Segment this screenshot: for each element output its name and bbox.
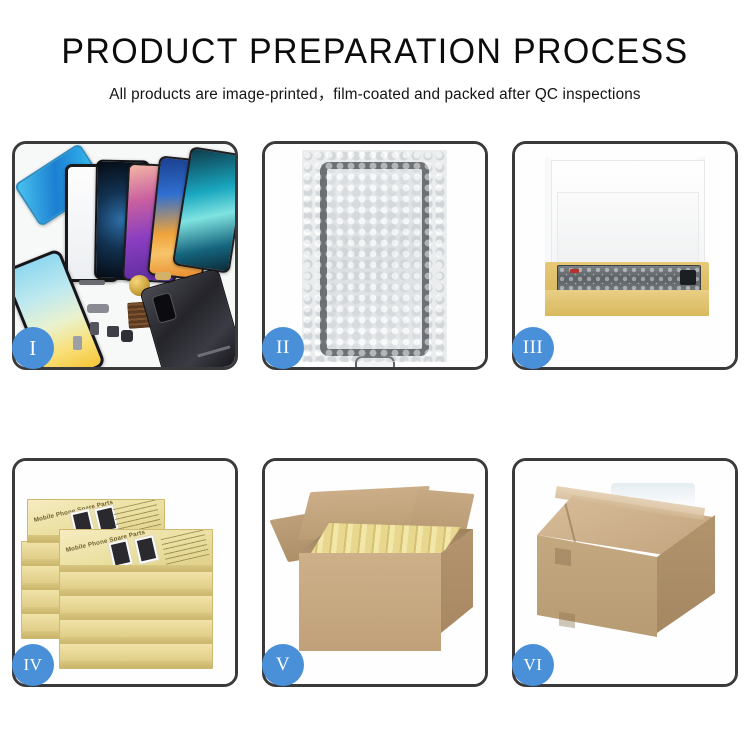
back-cover-detail	[197, 345, 231, 357]
screen-label-dot	[570, 269, 579, 273]
flex-part-6	[155, 272, 171, 280]
carton-front-face	[299, 553, 441, 651]
stacked-box	[59, 595, 213, 621]
step-badge-3: III	[512, 327, 554, 369]
stacked-box	[59, 571, 213, 597]
carton-tab-lower	[559, 612, 575, 629]
flex-part-2	[87, 304, 109, 313]
stacked-box-lid-front: Mobile Phone Spare Parts	[59, 529, 213, 573]
flex-part-3	[90, 322, 99, 335]
phone-back-cover	[139, 268, 235, 367]
bubble-wrap-sheet	[302, 150, 447, 362]
step-badge-5: V	[262, 644, 304, 686]
page-header: PRODUCT PREPARATION PROCESS All products…	[0, 0, 750, 104]
screen-connector	[680, 270, 696, 285]
process-step-panel-2: II	[262, 141, 488, 370]
step-badge-4: IV	[12, 644, 54, 686]
stacked-box	[59, 619, 213, 645]
process-step-panel-5: V	[262, 458, 488, 687]
foam-padding	[557, 192, 699, 268]
page-title: PRODUCT PREPARATION PROCESS	[11, 34, 739, 71]
box-print-thumb	[133, 534, 160, 565]
flex-part-1	[79, 280, 105, 285]
process-step-panel-1: I	[12, 141, 238, 370]
flex-part-4	[107, 326, 119, 337]
page-subtitle: All products are image-printed，film-coat…	[0, 82, 750, 104]
camera-module-icon	[151, 292, 177, 324]
bubble-texture	[302, 150, 447, 362]
stacked-box	[59, 643, 213, 669]
process-step-panel-3: III	[512, 141, 738, 370]
flex-part-8	[73, 336, 82, 350]
box-spec-lines	[161, 530, 210, 565]
process-step-grid: I II III	[12, 141, 738, 687]
kraft-box-front	[545, 290, 709, 316]
step-badge-2: II	[262, 327, 304, 369]
packed-screen	[557, 265, 701, 292]
box-stack: Mobile Phone Spare Parts Mobile Phone Sp…	[21, 479, 235, 669]
step-badge-6: VI	[512, 644, 554, 686]
step-badge-1: I	[12, 327, 54, 369]
flex-part-5	[121, 330, 133, 342]
carton-tab-upper	[555, 548, 571, 567]
process-step-panel-4: Mobile Phone Spare Parts Mobile Phone Sp…	[12, 458, 238, 687]
process-step-panel-6: VI	[512, 458, 738, 687]
